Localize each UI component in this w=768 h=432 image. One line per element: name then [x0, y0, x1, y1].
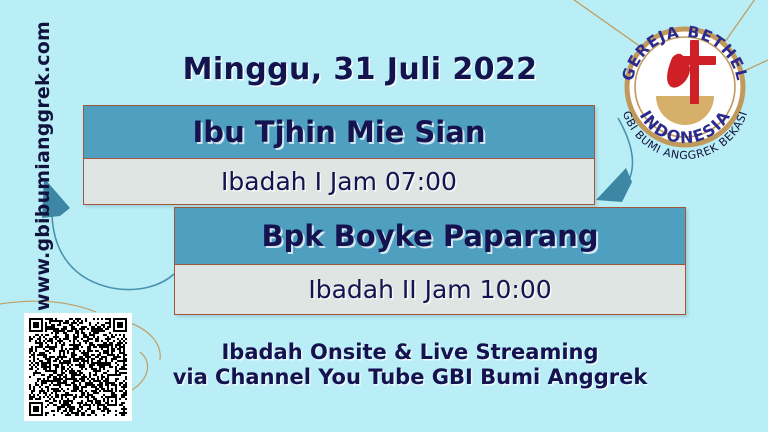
- footer-line-1: Ibadah Onsite & Live Streaming: [120, 340, 700, 365]
- qr-code-image: [29, 318, 127, 416]
- service-speaker-2: Bpk Boyke Paparang: [175, 208, 685, 265]
- page-title: Minggu, 31 Juli 2022: [150, 52, 570, 87]
- footer-note: Ibadah Onsite & Live Streaming via Chann…: [120, 340, 700, 390]
- website-url: www.gbibumianggrek.com: [32, 41, 54, 311]
- gbi-logo: GEREJA BETHEL INDONESIA GBI BUMI ANGGREK…: [612, 14, 758, 160]
- service-session-2: Ibadah II Jam 10:00: [175, 265, 685, 314]
- footer-line-2: via Channel You Tube GBI Bumi Anggrek: [120, 365, 700, 390]
- service-speaker-1: Ibu Tjhin Mie Sian: [84, 106, 594, 159]
- service-card-2: Bpk Boyke Paparang Ibadah II Jam 10:00: [174, 207, 686, 315]
- qr-code[interactable]: [24, 313, 132, 421]
- service-card-1: Ibu Tjhin Mie Sian Ibadah I Jam 07:00: [83, 105, 595, 205]
- service-session-1: Ibadah I Jam 07:00: [84, 159, 594, 204]
- poster-canvas: www.gbibumianggrek.com Minggu, 31 Juli 2…: [0, 0, 768, 432]
